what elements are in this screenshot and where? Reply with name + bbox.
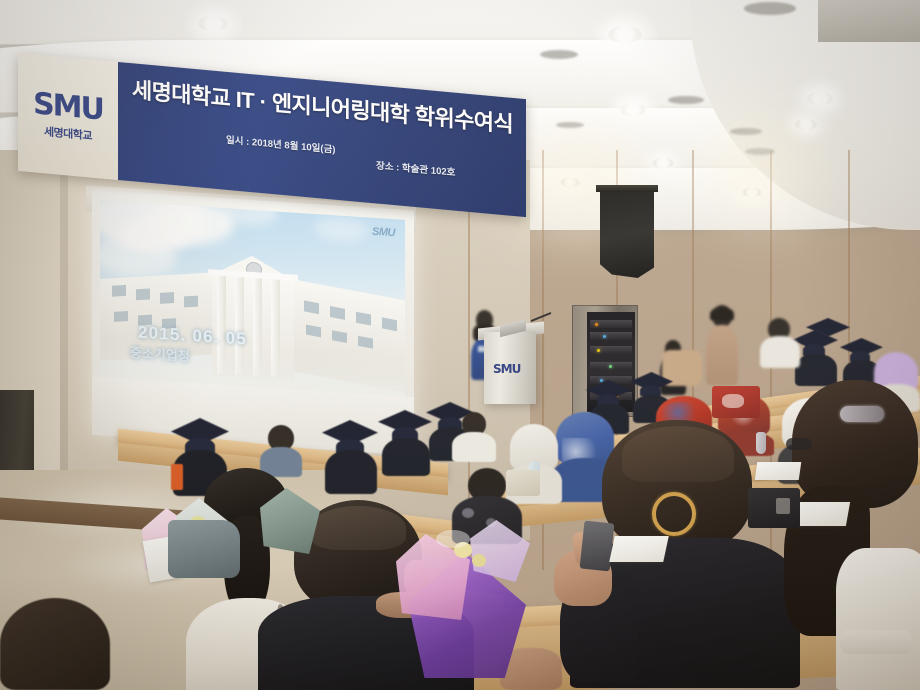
flower-bouquet-green: [260, 488, 324, 558]
projection-screen: 2015. 06. 05 중소기업청 SMU: [92, 190, 414, 456]
attendee-head-lower-left: [0, 598, 110, 690]
flower-bouquet-front: [392, 520, 542, 680]
photograph-scene: 2015. 06. 05 중소기업청 SMU SMU 세명대학교 세명대학교 I…: [0, 0, 920, 690]
lectern-podium: SMU: [484, 332, 536, 404]
tote-bag-patterned: [506, 470, 540, 496]
projected-slide: 2015. 06. 05 중소기업청 SMU: [100, 200, 405, 398]
banner-logo-panel: SMU 세명대학교: [18, 53, 118, 180]
handbag-black: [748, 488, 800, 528]
hanging-line-array-speaker: [600, 192, 654, 278]
program-paper-mid: [609, 536, 669, 562]
folded-garment: [168, 520, 240, 578]
water-bottle-b: [756, 432, 766, 454]
slide-watermark: SMU: [372, 226, 395, 239]
banner-date: 일시 : 2018년 8월 10일(금): [226, 132, 335, 156]
banner-place: 장소 : 학술관 102호: [376, 157, 455, 178]
smu-logo-korean: 세명대학교: [44, 123, 92, 143]
smu-logo-mark: SMU: [33, 89, 103, 125]
speaker-bracket: [596, 185, 658, 192]
attendee-upper-right-white: [760, 318, 800, 366]
attendee-white-shirt: [452, 412, 496, 458]
attendee-woman-white-blouse: [784, 380, 920, 690]
handbag-red-pattern: [712, 386, 760, 418]
attendee-woman-gold-earring: [560, 420, 810, 690]
graduate-seated-mid: [318, 420, 384, 488]
podium-smu-logo: SMU: [493, 362, 520, 376]
mortarboard-on-desk: [806, 318, 850, 340]
standing-attendee: [705, 305, 739, 385]
slide-sub-caption: 중소기업청: [130, 342, 190, 365]
program-paper-far: [755, 462, 802, 480]
